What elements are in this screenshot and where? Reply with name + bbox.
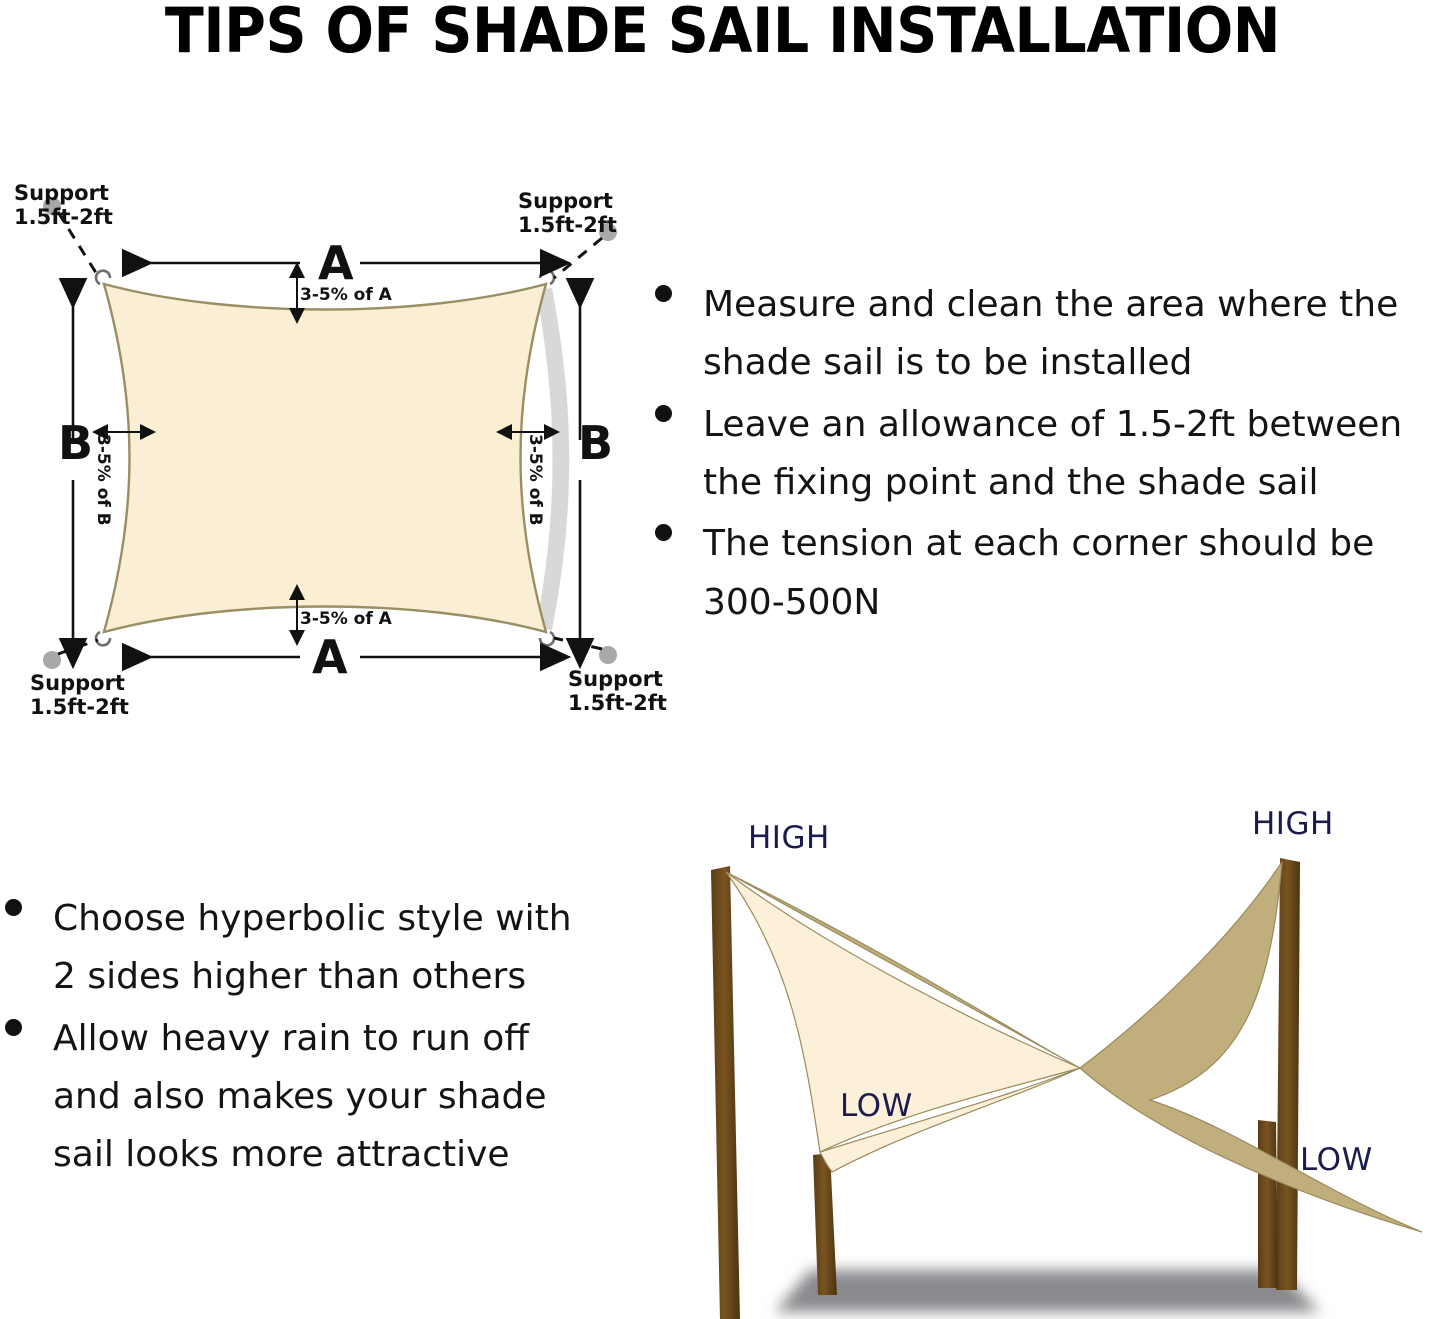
- infographic-page: TIPS OF SHADE SAIL INSTALLATION: [0, 0, 1445, 1319]
- curvature-label-bottom: 3-5% of A: [300, 610, 392, 629]
- dimension-letter-right-b: B: [578, 418, 613, 470]
- post-high-right: [1276, 858, 1300, 1290]
- list-item: Choose hyperbolic style with 2 sides hig…: [5, 890, 625, 1007]
- support-bottom-left: Support 1.5ft-2ft: [30, 672, 129, 719]
- bullet-dot-icon: [655, 405, 672, 422]
- sail-body: [104, 284, 546, 632]
- bullet-dot-icon: [655, 524, 672, 541]
- support-top-left: Support 1.5ft-2ft: [14, 182, 113, 229]
- support-bottom-right: Support 1.5ft-2ft: [568, 668, 667, 715]
- support-top-left-line2: 1.5ft-2ft: [14, 206, 113, 230]
- page-title: TIPS OF SHADE SAIL INSTALLATION: [58, 0, 1387, 67]
- list-item-text: Measure and clean the area where the sha…: [703, 276, 1445, 393]
- support-top-left-line1: Support: [14, 182, 113, 206]
- support-top-right-line1: Support: [518, 190, 617, 214]
- bullet-dot-icon: [5, 1019, 22, 1036]
- curvature-label-right: 3-5% of B: [525, 434, 544, 526]
- label-low-right: LOW: [1300, 1142, 1373, 1178]
- support-bottom-right-line1: Support: [568, 668, 667, 692]
- list-item-text: Leave an allowance of 1.5-2ft between th…: [703, 396, 1445, 513]
- label-high-left: HIGH: [748, 820, 830, 856]
- hyperbolic-tips-list: Choose hyperbolic style with 2 sides hig…: [5, 890, 625, 1188]
- support-bottom-left-line1: Support: [30, 672, 129, 696]
- list-item: Leave an allowance of 1.5-2ft between th…: [655, 396, 1445, 513]
- post-low-right: [1258, 1120, 1278, 1288]
- dimension-letter-left-b: B: [58, 418, 93, 470]
- list-item-text: Choose hyperbolic style with 2 sides hig…: [53, 890, 625, 1007]
- bullet-dot-icon: [5, 899, 22, 916]
- curvature-label-left: 3-5% of B: [93, 434, 112, 526]
- support-top-right-line2: 1.5ft-2ft: [518, 214, 617, 238]
- curvature-label-top: 3-5% of A: [300, 286, 392, 305]
- list-item: The tension at each corner should be 300…: [655, 515, 1445, 632]
- label-high-right: HIGH: [1252, 806, 1334, 842]
- label-low-left: LOW: [840, 1088, 913, 1124]
- bullet-dot-icon: [655, 285, 672, 302]
- dimension-letter-top-a: A: [318, 238, 354, 290]
- support-bottom-right-line2: 1.5ft-2ft: [568, 692, 667, 716]
- support-bottom-left-line2: 1.5ft-2ft: [30, 696, 129, 720]
- post-high-left: [711, 866, 740, 1319]
- list-item: Measure and clean the area where the sha…: [655, 276, 1445, 393]
- list-item: Allow heavy rain to run off and also mak…: [5, 1010, 625, 1185]
- installation-tips-list: Measure and clean the area where the sha…: [655, 276, 1445, 635]
- support-top-right: Support 1.5ft-2ft: [518, 190, 617, 237]
- dimension-letter-bottom-a: A: [312, 632, 348, 684]
- hyperbolic-sail-illustration: [680, 800, 1440, 1319]
- list-item-text: The tension at each corner should be 300…: [703, 515, 1445, 632]
- ground-shadow: [775, 1270, 1320, 1312]
- list-item-text: Allow heavy rain to run off and also mak…: [53, 1010, 625, 1185]
